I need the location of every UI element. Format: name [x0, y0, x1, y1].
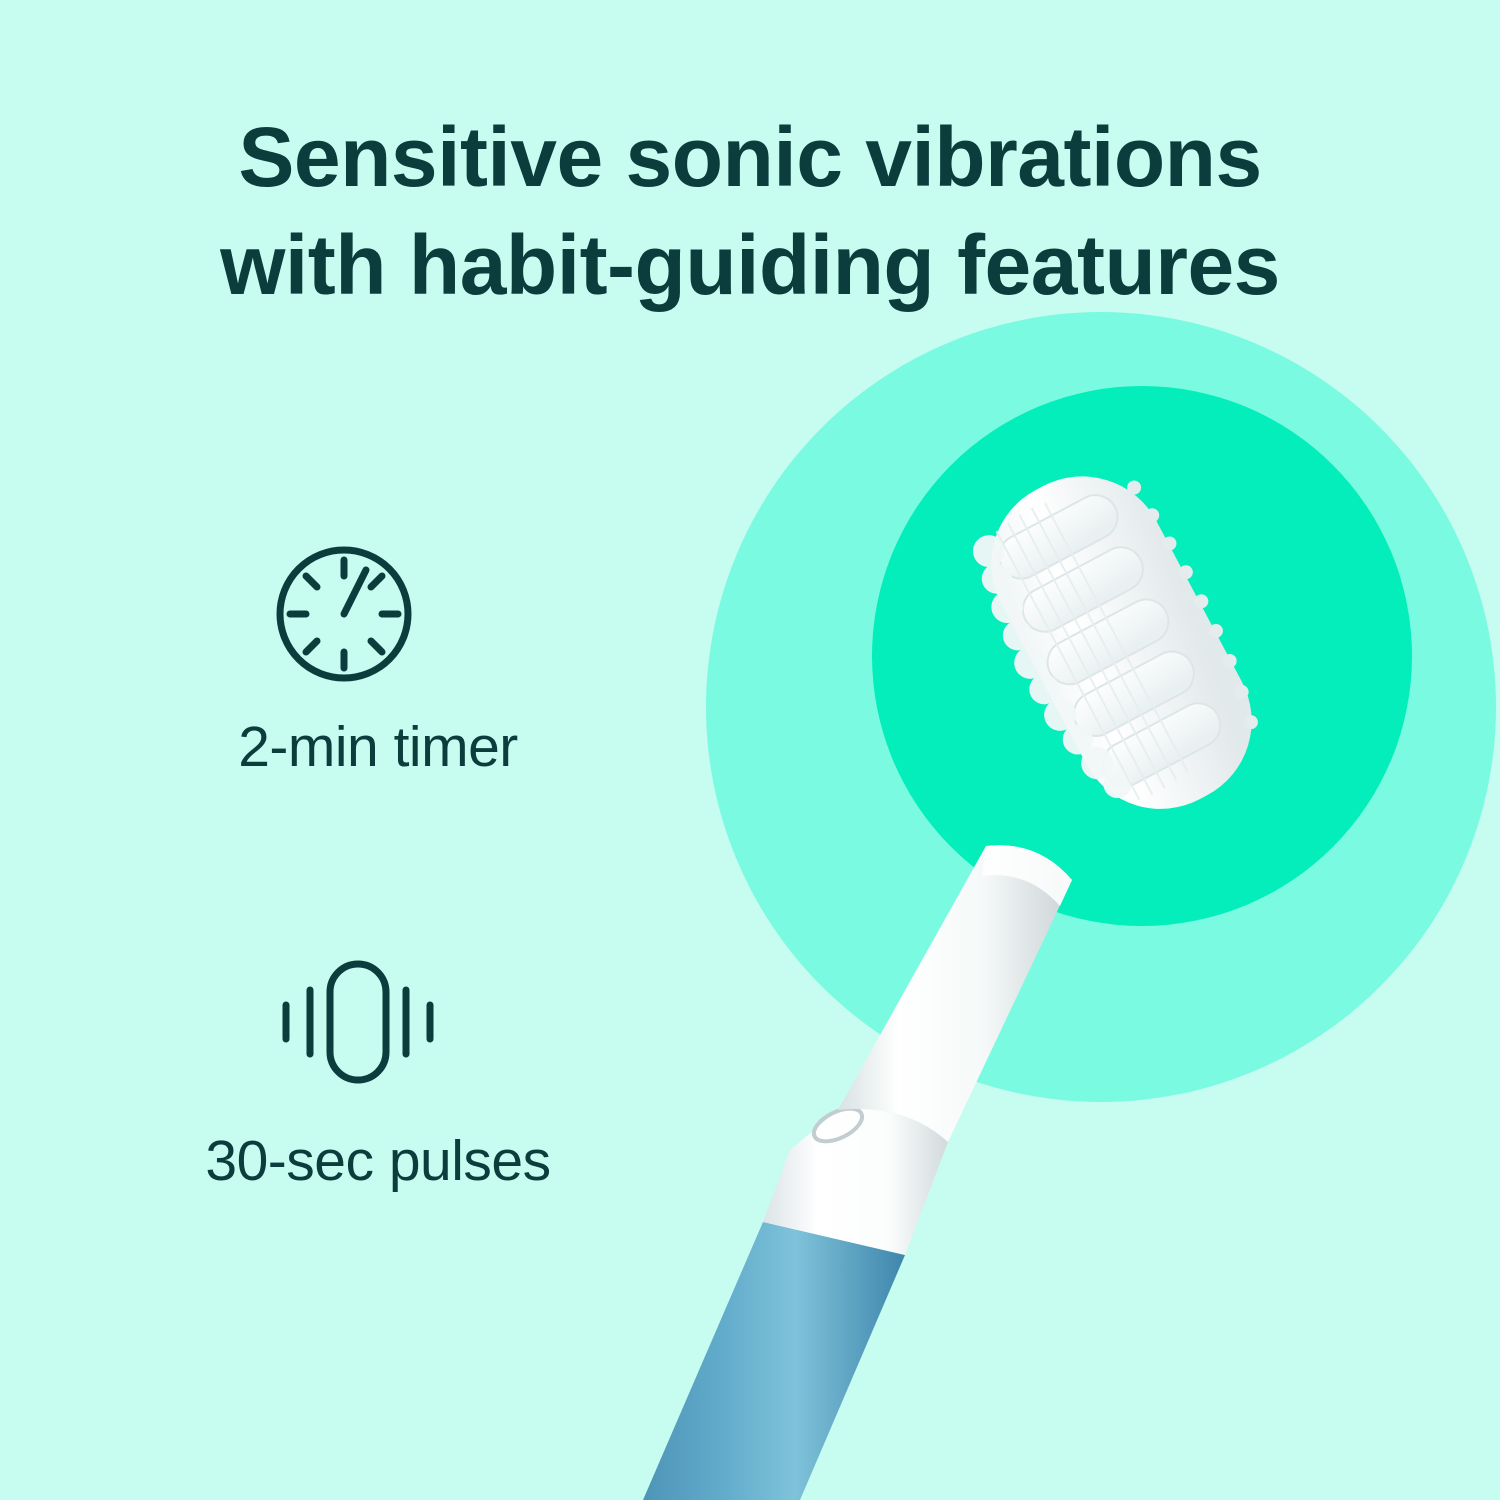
power-button[interactable] — [809, 1102, 867, 1148]
vibration-icon-wrap — [268, 952, 648, 1104]
clock-icon — [268, 538, 420, 690]
feature-label-timer: 2-min timer — [108, 714, 648, 780]
page-title: Sensitive sonic vibrations with habit-gu… — [0, 104, 1500, 319]
brush-handle — [643, 1222, 905, 1500]
feature-item-pulses: 30-sec pulses — [108, 952, 648, 1194]
brush-neck — [763, 1109, 948, 1255]
clock-icon-wrap — [268, 538, 648, 690]
feature-item-timer: 2-min timer — [108, 538, 648, 780]
accent-circle-inner — [872, 386, 1412, 926]
feature-list: 2-min timer 30-sec pulses — [108, 538, 648, 1194]
feature-label-pulses: 30-sec pulses — [108, 1128, 648, 1194]
vibration-icon — [268, 952, 448, 1092]
product-feature-graphic: Sensitive sonic vibrations with habit-gu… — [0, 0, 1500, 1500]
